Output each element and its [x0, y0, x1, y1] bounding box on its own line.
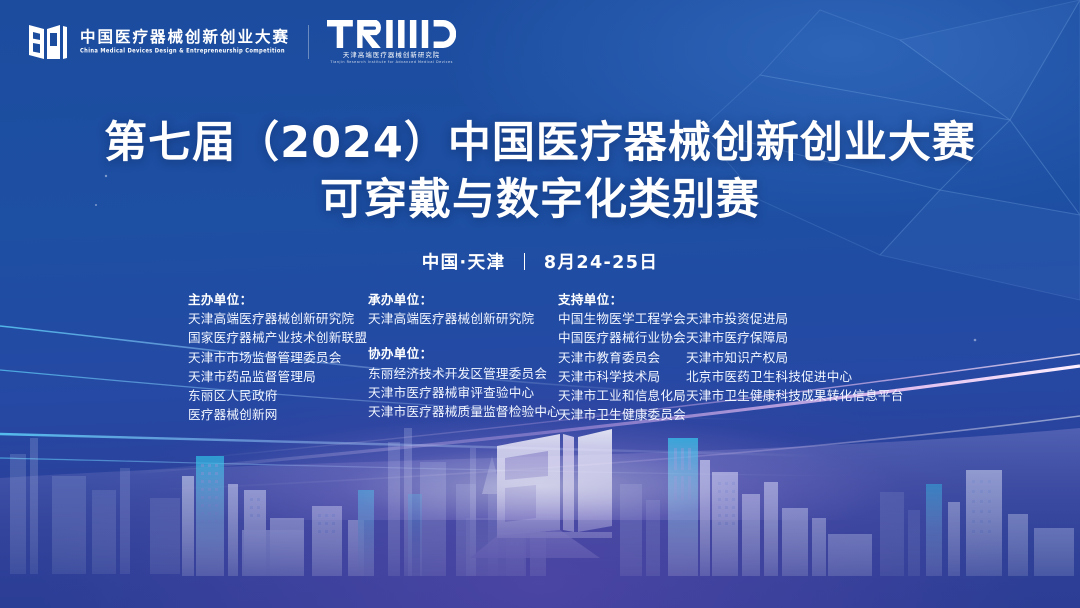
org-item: 天津市工业和信息化局	[558, 386, 686, 405]
org-heading: 协办单位：	[368, 344, 558, 363]
header-logos: 中国医疗器械创新创业大赛 China Medical Devices Desig…	[26, 20, 456, 64]
city-skyline-icon	[0, 398, 1080, 608]
competition-logo: 中国医疗器械创新创业大赛 China Medical Devices Desig…	[26, 20, 290, 64]
org-item: 东丽区人民政府	[188, 386, 368, 405]
org-item: 天津市药品监督管理局	[188, 367, 368, 386]
trimd-wordmark-icon	[327, 20, 456, 48]
org-item: 天津市知识产权局	[686, 348, 896, 367]
org-group: 支持单位： 中国生物医学工程学会 中国医疗器械行业协会 天津市教育委员会 天津市…	[558, 290, 686, 424]
organizers-column: 主办单位： 天津高端医疗器械创新研究院 国家医疗器械产业技术创新联盟 天津市市场…	[188, 290, 368, 424]
meta-divider	[524, 253, 526, 270]
org-group: 主办单位： 天津高端医疗器械创新研究院 国家医疗器械产业技术创新联盟 天津市市场…	[188, 290, 368, 424]
event-meta: 中国·天津 8月24-25日	[0, 249, 1080, 274]
org-heading: 支持单位：	[558, 290, 686, 309]
institute-name-cn: 天津高端医疗器械创新研究院	[343, 52, 440, 58]
heading-spacer	[686, 290, 896, 309]
hosts-column: 承办单位： 天津高端医疗器械创新研究院 协办单位： 东丽经济技术开发区管理委员会…	[368, 290, 558, 424]
open-door-logo-icon	[26, 20, 70, 64]
org-group: 承办单位： 天津高端医疗器械创新研究院	[368, 290, 558, 328]
org-item: 天津市投资促进局	[686, 309, 896, 328]
logo-divider	[308, 25, 309, 59]
org-item: 中国生物医学工程学会	[558, 309, 686, 328]
org-item: 天津市医疗器械质量监督检验中心	[368, 402, 558, 421]
supporters-sub-column-b: 天津市投资促进局 天津市医疗保障局 天津市知识产权局 北京市医药卫生科技促进中心…	[686, 290, 896, 424]
organizations-block: 主办单位： 天津高端医疗器械创新研究院 国家医疗器械产业技术创新联盟 天津市市场…	[188, 290, 896, 424]
event-poster: 中国医疗器械创新创业大赛 China Medical Devices Desig…	[0, 0, 1080, 608]
org-item: 天津市教育委员会	[558, 348, 686, 367]
supporters-sub-column-a: 支持单位： 中国生物医学工程学会 中国医疗器械行业协会 天津市教育委员会 天津市…	[558, 290, 686, 424]
org-group: 协办单位： 东丽经济技术开发区管理委员会 天津市医疗器械审评查验中心 天津市医疗…	[368, 344, 558, 421]
org-item: 天津市卫生健康委员会	[558, 405, 686, 424]
org-item: 天津市医疗器械审评查验中心	[368, 383, 558, 402]
main-title-line-1: 第七届（2024）中国医疗器械创新创业大赛	[0, 118, 1080, 169]
competition-logo-text: 中国医疗器械创新创业大赛 China Medical Devices Desig…	[80, 30, 290, 55]
org-item: 天津高端医疗器械创新研究院	[368, 309, 558, 328]
org-item: 东丽经济技术开发区管理委员会	[368, 364, 558, 383]
org-item: 国家医疗器械产业技术创新联盟	[188, 328, 368, 347]
org-group: 天津市投资促进局 天津市医疗保障局 天津市知识产权局 北京市医药卫生科技促进中心…	[686, 290, 896, 405]
main-title-line-2: 可穿戴与数字化类别赛	[0, 175, 1080, 226]
competition-name-en: China Medical Devices Design & Entrepren…	[80, 49, 290, 55]
org-item: 北京市医药卫生科技促进中心	[686, 367, 896, 386]
org-heading: 承办单位：	[368, 290, 558, 309]
org-item: 天津高端医疗器械创新研究院	[188, 309, 368, 328]
institute-name-en: Tianjin Research Institute for Advanced …	[330, 61, 453, 64]
org-item: 天津市市场监督管理委员会	[188, 348, 368, 367]
competition-name-cn: 中国医疗器械创新创业大赛	[80, 30, 290, 46]
title-block: 第七届（2024）中国医疗器械创新创业大赛 可穿戴与数字化类别赛 中国·天津 8…	[0, 118, 1080, 274]
org-item: 中国医疗器械行业协会	[558, 328, 686, 347]
institute-logo: 天津高端医疗器械创新研究院 Tianjin Research Institute…	[327, 20, 456, 64]
org-item: 天津市卫生健康科技成果转化信息平台	[686, 386, 896, 405]
event-date: 8月24-25日	[544, 253, 658, 273]
org-heading: 主办单位：	[188, 290, 368, 309]
event-location: 中国·天津	[422, 253, 506, 273]
supporters-column: 支持单位： 中国生物医学工程学会 中国医疗器械行业协会 天津市教育委员会 天津市…	[558, 290, 896, 424]
org-item: 医疗器械创新网	[188, 405, 368, 424]
org-item: 天津市医疗保障局	[686, 328, 896, 347]
org-item: 天津市科学技术局	[558, 367, 686, 386]
